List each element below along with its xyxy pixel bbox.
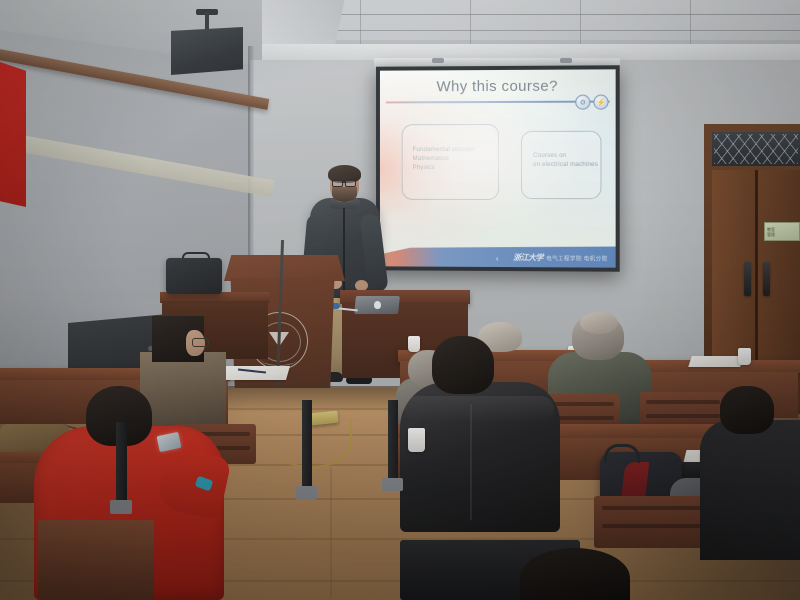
presenter-glasses-icon bbox=[332, 180, 343, 187]
presenter-zipper bbox=[343, 208, 345, 296]
paper-cup bbox=[738, 348, 751, 365]
slide-box-right-text: Courses on on electrical machines bbox=[533, 151, 598, 169]
attendee-brown-jacket-body bbox=[140, 352, 226, 430]
apple-logo-icon bbox=[374, 301, 381, 309]
desk-leg-foot bbox=[382, 478, 403, 491]
slide-badge-two: ⚡ bbox=[593, 95, 608, 110]
slide-box-electrical-machines: Courses on on electrical machines bbox=[521, 131, 601, 199]
slide-box-left-line: Fundamental courses: bbox=[413, 145, 477, 154]
ceiling-speaker-icon bbox=[171, 27, 243, 75]
attendee-foreground-head bbox=[520, 548, 630, 600]
door-sign-text: 教室 管理 bbox=[767, 227, 775, 237]
screen-mount bbox=[560, 58, 572, 63]
badge-one-icon: ⚙ bbox=[580, 98, 586, 106]
podium-top bbox=[224, 255, 345, 281]
door-handle-left[interactable] bbox=[744, 262, 751, 296]
chair-back bbox=[594, 496, 714, 548]
slide-box-right-line: on electrical machines bbox=[533, 160, 598, 169]
ceiling-grid-line bbox=[690, 0, 691, 46]
desk-leg-foot bbox=[110, 500, 132, 514]
door-handle-right[interactable] bbox=[763, 262, 770, 296]
red-banner bbox=[0, 62, 26, 207]
slide-page-number: 4 bbox=[496, 257, 499, 263]
attendee-leather-jacket-head bbox=[432, 336, 494, 394]
paper-cup bbox=[408, 428, 425, 452]
laptop-bag bbox=[166, 258, 222, 294]
lecture-room-photo: Why this course? ⚙ ⚡ Fundamental courses… bbox=[0, 0, 800, 600]
door-sign: 教室 管理 bbox=[764, 222, 800, 241]
ceiling-far bbox=[300, 0, 800, 40]
university-logo-mark: 浙江大学 bbox=[513, 252, 543, 263]
ceiling-grid-line bbox=[470, 0, 471, 46]
university-logo-subtitle: 电气工程学院 电机分院 bbox=[546, 254, 607, 262]
glasses-icon bbox=[192, 338, 209, 347]
chair-back bbox=[38, 520, 154, 600]
presenter-glasses-icon bbox=[345, 180, 356, 187]
transom-lattice bbox=[714, 134, 798, 164]
screen-mount bbox=[432, 58, 444, 63]
ceiling-grid-line bbox=[580, 0, 581, 46]
speaker-stem bbox=[205, 12, 209, 29]
projector-screen: Why this course? ⚙ ⚡ Fundamental courses… bbox=[376, 65, 620, 271]
slide-badge-one: ⚙ bbox=[575, 95, 590, 110]
handout-paper bbox=[220, 366, 290, 380]
desk-leg bbox=[302, 400, 312, 492]
attendee-olive-sweater-hair bbox=[580, 312, 618, 334]
slide-box-left-line: Mathematics bbox=[413, 154, 477, 163]
paper-cup bbox=[408, 336, 420, 352]
badge-two-icon: ⚡ bbox=[597, 98, 606, 106]
slide-title: Why this course? bbox=[380, 77, 616, 95]
desk-leg bbox=[388, 400, 398, 484]
attendee-right-edge-head bbox=[720, 386, 774, 434]
slide-box-left-line: Physics bbox=[413, 163, 477, 172]
backpack-strap bbox=[604, 444, 640, 463]
handout-paper bbox=[688, 356, 744, 367]
slide-footer-logo: 浙江大学 电气工程学院 电机分院 bbox=[513, 252, 608, 264]
slide-box-left-text: Fundamental courses: Mathematics Physics bbox=[413, 145, 477, 172]
ceiling-grid-line bbox=[360, 0, 361, 46]
attendee-right-edge-body bbox=[700, 420, 800, 560]
door-sign-line: 管理 bbox=[767, 232, 775, 237]
presentation-slide: Why this course? ⚙ ⚡ Fundamental courses… bbox=[380, 69, 616, 267]
attendee-leather-highlight bbox=[404, 396, 554, 422]
attendee-leather-seam bbox=[470, 404, 472, 520]
desk-leg-foot bbox=[296, 486, 317, 500]
desk-leg bbox=[116, 422, 127, 506]
slide-box-right-line: Courses on bbox=[533, 151, 598, 160]
presenter-beard bbox=[332, 187, 357, 202]
slide-box-fundamental-courses: Fundamental courses: Mathematics Physics bbox=[402, 124, 499, 200]
